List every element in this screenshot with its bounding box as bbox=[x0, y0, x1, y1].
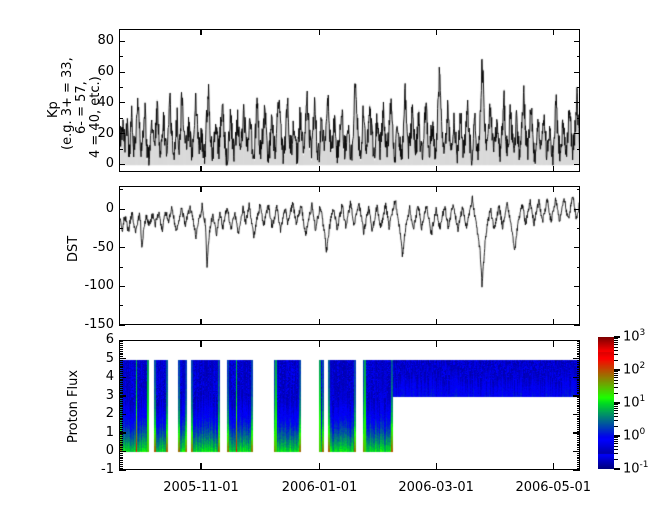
ytick-minor-right bbox=[577, 457, 581, 458]
xtick-major-top bbox=[436, 340, 437, 347]
colorbar-tick-minor bbox=[614, 342, 618, 343]
ytick-minor bbox=[119, 228, 123, 229]
ytick-minor-right bbox=[577, 349, 581, 350]
xtick-label: 2006-05-01 bbox=[505, 481, 601, 494]
colorbar-tick-minor bbox=[614, 406, 618, 407]
ytick-minor-right bbox=[577, 418, 581, 419]
colorbar-tick-minor bbox=[614, 404, 618, 405]
colorbar-tick-minor bbox=[614, 354, 618, 355]
xtick-dst-top bbox=[553, 186, 554, 192]
ytick-minor-right bbox=[577, 408, 581, 409]
xtick-major-top bbox=[553, 340, 554, 347]
ytick-minor-right bbox=[577, 379, 581, 380]
ytick-major bbox=[119, 325, 125, 326]
ytick-minor bbox=[119, 421, 123, 422]
colorbar-tick-minor bbox=[614, 443, 618, 444]
xtick-major-top bbox=[200, 340, 201, 347]
xtick-dst bbox=[436, 319, 437, 325]
ytick-minor-right bbox=[577, 429, 581, 430]
ytick-major bbox=[119, 247, 125, 248]
ytick-minor-right bbox=[577, 392, 581, 393]
ytick-minor bbox=[119, 468, 123, 469]
ytick-minor-right bbox=[577, 118, 581, 119]
xtick-major bbox=[319, 463, 320, 470]
ytick-minor-right bbox=[577, 406, 581, 407]
ytick-minor bbox=[119, 449, 123, 450]
ytick-label: 1 bbox=[106, 426, 114, 439]
ytick-minor-right bbox=[577, 228, 581, 229]
colorbar-tick-minor bbox=[614, 338, 618, 339]
ytick-major-right bbox=[574, 286, 580, 287]
ytick-minor bbox=[119, 410, 123, 411]
ytick-minor-right bbox=[577, 421, 581, 422]
dst-plot-canvas bbox=[120, 187, 580, 325]
ytick-label: -150 bbox=[84, 318, 114, 331]
kp-axis-title-line: (e.g. 3+ = 33, bbox=[60, 57, 75, 150]
xtick-kp-top bbox=[200, 29, 201, 35]
colorbar-tick-minor bbox=[614, 408, 618, 409]
ytick-minor-right bbox=[577, 382, 581, 383]
ytick-minor-right bbox=[577, 449, 581, 450]
ytick-minor bbox=[119, 343, 123, 344]
ytick-minor bbox=[119, 373, 123, 374]
ytick-minor bbox=[119, 466, 123, 467]
colorbar-tick-major bbox=[614, 468, 620, 469]
xtick-kp bbox=[553, 166, 554, 172]
xtick-label: 2005-11-01 bbox=[153, 481, 249, 494]
colorbar-tick-minor bbox=[614, 449, 618, 450]
ytick-minor-right bbox=[577, 375, 581, 376]
colorbar-tick-minor bbox=[614, 446, 618, 447]
ytick-minor bbox=[119, 353, 123, 354]
ytick-minor-right bbox=[577, 347, 581, 348]
ytick-minor-right bbox=[577, 189, 581, 190]
ytick-minor-right bbox=[577, 436, 581, 437]
ytick-label: -50 bbox=[93, 241, 114, 254]
ytick-minor-right bbox=[577, 353, 581, 354]
ytick-minor bbox=[119, 412, 123, 413]
ytick-minor-right bbox=[577, 412, 581, 413]
ytick-minor bbox=[119, 375, 123, 376]
ytick-minor bbox=[119, 379, 123, 380]
colorbar-tick-minor bbox=[614, 437, 618, 438]
ytick-minor bbox=[119, 431, 123, 432]
ytick-minor-right bbox=[577, 458, 581, 459]
ytick-minor-right bbox=[577, 466, 581, 467]
ytick-minor bbox=[119, 380, 123, 381]
ytick-minor bbox=[119, 349, 123, 350]
ytick-label: 0 bbox=[106, 202, 114, 215]
xtick-dst bbox=[200, 319, 201, 325]
proton-flux-panel bbox=[119, 340, 580, 470]
xtick-kp-top bbox=[319, 29, 320, 35]
xtick-major-top bbox=[319, 340, 320, 347]
ytick-label: -100 bbox=[84, 279, 114, 292]
ytick-label: -1 bbox=[101, 463, 114, 476]
ytick-minor bbox=[119, 447, 123, 448]
xtick-kp bbox=[200, 166, 201, 172]
xtick-major bbox=[553, 463, 554, 470]
ytick-minor-right bbox=[577, 56, 581, 57]
colorbar-tick-minor bbox=[614, 453, 618, 454]
ytick-minor bbox=[119, 423, 123, 424]
ytick-minor bbox=[119, 408, 123, 409]
kp-panel bbox=[119, 29, 580, 172]
ytick-minor bbox=[119, 405, 123, 406]
ytick-major-right bbox=[574, 102, 580, 103]
ytick-minor bbox=[119, 393, 123, 394]
ytick-minor-right bbox=[577, 445, 581, 446]
ytick-label: 3 bbox=[106, 389, 114, 402]
ytick-minor-right bbox=[577, 434, 581, 435]
colorbar-tick-minor bbox=[614, 393, 618, 394]
ytick-minor bbox=[119, 427, 123, 428]
xtick-dst-top bbox=[200, 186, 201, 192]
ytick-major-right bbox=[574, 72, 580, 73]
ytick-major-right bbox=[574, 133, 580, 134]
ytick-minor bbox=[119, 392, 123, 393]
colorbar-tick-minor bbox=[614, 347, 618, 348]
colorbar-tick-minor bbox=[614, 377, 618, 378]
ytick-major-right bbox=[573, 470, 580, 471]
colorbar-tick-minor bbox=[614, 426, 618, 427]
xtick-major bbox=[200, 463, 201, 470]
ytick-major-right bbox=[574, 247, 580, 248]
colorbar-tick-minor bbox=[614, 416, 618, 417]
colorbar-tick-label: 101 bbox=[623, 394, 645, 410]
colorbar-tick-minor bbox=[614, 439, 618, 440]
colorbar-tick-minor bbox=[614, 459, 618, 460]
ytick-minor-right bbox=[577, 410, 581, 411]
colorbar-tick-minor bbox=[614, 360, 618, 361]
xtick-kp bbox=[319, 166, 320, 172]
ytick-minor-right bbox=[577, 351, 581, 352]
ytick-minor bbox=[119, 189, 123, 190]
ytick-minor bbox=[119, 418, 123, 419]
colorbar-tick-minor bbox=[614, 420, 618, 421]
ytick-label: 6 bbox=[106, 333, 114, 346]
ytick-minor bbox=[119, 445, 123, 446]
ytick-minor bbox=[119, 305, 123, 306]
ytick-minor-right bbox=[577, 431, 581, 432]
ytick-label: 80 bbox=[97, 34, 114, 47]
ytick-minor-right bbox=[577, 416, 581, 417]
ytick-minor bbox=[119, 364, 123, 365]
ytick-major-right bbox=[574, 325, 580, 326]
ytick-minor-right bbox=[577, 427, 581, 428]
ytick-minor-right bbox=[577, 345, 581, 346]
kp-axis-title-line: Kp bbox=[46, 101, 61, 118]
figure-root: 020406080 Kp(e.g. 3+ = 33,6- = 57,4 = 40… bbox=[0, 0, 665, 523]
ytick-minor-right bbox=[577, 440, 581, 441]
ytick-label: 0 bbox=[106, 157, 114, 170]
ytick-minor bbox=[119, 453, 123, 454]
ytick-major bbox=[119, 133, 125, 134]
ytick-minor bbox=[119, 419, 123, 420]
xtick-dst-top bbox=[319, 186, 320, 192]
ytick-minor bbox=[119, 406, 123, 407]
colorbar-tick-minor bbox=[614, 344, 618, 345]
ytick-minor bbox=[119, 366, 123, 367]
ytick-minor-right bbox=[577, 460, 581, 461]
ytick-label: 0 bbox=[106, 444, 114, 457]
colorbar-tick-minor bbox=[614, 380, 618, 381]
ytick-major bbox=[119, 41, 125, 42]
ytick-minor-right bbox=[577, 464, 581, 465]
xtick-kp-top bbox=[436, 29, 437, 35]
ytick-minor bbox=[119, 403, 123, 404]
colorbar bbox=[598, 337, 614, 469]
ytick-minor-right bbox=[577, 367, 581, 368]
ytick-minor-right bbox=[577, 343, 581, 344]
ytick-minor bbox=[119, 386, 123, 387]
xtick-label: 2006-01-01 bbox=[272, 481, 368, 494]
ytick-major-right bbox=[574, 209, 580, 210]
colorbar-tick-label: 10-1 bbox=[623, 460, 649, 476]
ytick-minor-right bbox=[577, 393, 581, 394]
ytick-label: 4 bbox=[106, 370, 114, 383]
ytick-minor bbox=[119, 401, 123, 402]
ytick-minor bbox=[119, 397, 123, 398]
xtick-label: 2006-03-01 bbox=[388, 481, 484, 494]
ytick-label: 2 bbox=[106, 407, 114, 420]
ytick-minor-right bbox=[577, 401, 581, 402]
dst-panel bbox=[119, 186, 580, 325]
colorbar-tick-minor bbox=[614, 441, 618, 442]
ytick-minor-right bbox=[577, 442, 581, 443]
proton-flux-axis-title: Proton Flux bbox=[66, 370, 81, 443]
ytick-minor bbox=[119, 149, 123, 150]
xtick-kp bbox=[436, 166, 437, 172]
ytick-minor bbox=[119, 458, 123, 459]
ytick-minor bbox=[119, 429, 123, 430]
ytick-minor bbox=[119, 267, 123, 268]
colorbar-tick-minor bbox=[614, 371, 618, 372]
ytick-minor bbox=[119, 360, 123, 361]
xtick-major bbox=[436, 463, 437, 470]
ytick-minor bbox=[119, 455, 123, 456]
ytick-minor-right bbox=[577, 149, 581, 150]
ytick-minor-right bbox=[577, 364, 581, 365]
ytick-minor bbox=[119, 384, 123, 385]
ytick-minor bbox=[119, 345, 123, 346]
xtick-kp-top bbox=[553, 29, 554, 35]
xtick-dst-top bbox=[436, 186, 437, 192]
ytick-minor-right bbox=[577, 360, 581, 361]
ytick-minor bbox=[119, 118, 123, 119]
ytick-minor-right bbox=[577, 341, 581, 342]
ytick-minor-right bbox=[577, 267, 581, 268]
ytick-major bbox=[119, 72, 125, 73]
ytick-minor bbox=[119, 382, 123, 383]
proton-flux-heatmap-canvas bbox=[120, 341, 580, 470]
ytick-minor-right bbox=[577, 356, 581, 357]
colorbar-tick-label: 103 bbox=[623, 328, 645, 344]
ytick-minor-right bbox=[577, 388, 581, 389]
ytick-minor bbox=[119, 351, 123, 352]
ytick-minor-right bbox=[577, 399, 581, 400]
colorbar-tick-minor bbox=[614, 383, 618, 384]
ytick-minor bbox=[119, 438, 123, 439]
ytick-minor-right bbox=[577, 305, 581, 306]
ytick-minor-right bbox=[577, 380, 581, 381]
ytick-minor-right bbox=[577, 419, 581, 420]
colorbar-tick-minor bbox=[614, 350, 618, 351]
ytick-major bbox=[119, 470, 126, 471]
ytick-minor bbox=[119, 416, 123, 417]
ytick-minor-right bbox=[577, 468, 581, 469]
ytick-minor-right bbox=[577, 438, 581, 439]
ytick-minor bbox=[119, 354, 123, 355]
ytick-minor bbox=[119, 436, 123, 437]
colorbar-tick-minor bbox=[614, 340, 618, 341]
ytick-major bbox=[119, 164, 125, 165]
dst-axis-title: DST bbox=[66, 236, 81, 262]
ytick-minor-right bbox=[577, 462, 581, 463]
ytick-major-right bbox=[574, 41, 580, 42]
ytick-minor bbox=[119, 362, 123, 363]
ytick-minor bbox=[119, 425, 123, 426]
ytick-minor-right bbox=[577, 362, 581, 363]
colorbar-tick-minor bbox=[614, 410, 618, 411]
ytick-minor bbox=[119, 371, 123, 372]
ytick-minor bbox=[119, 367, 123, 368]
kp-axis-title-line: 4 = 40, etc.) bbox=[88, 76, 103, 158]
ytick-minor-right bbox=[577, 366, 581, 367]
ytick-minor bbox=[119, 341, 123, 342]
kp-plot-canvas bbox=[120, 30, 580, 172]
ytick-minor bbox=[119, 347, 123, 348]
ytick-minor bbox=[119, 444, 123, 445]
ytick-minor-right bbox=[577, 447, 581, 448]
colorbar-tick-minor bbox=[614, 413, 618, 414]
colorbar-tick-minor bbox=[614, 375, 618, 376]
colorbar-tick-minor bbox=[614, 387, 618, 388]
ytick-minor-right bbox=[577, 425, 581, 426]
ytick-minor bbox=[119, 399, 123, 400]
ytick-minor-right bbox=[577, 390, 581, 391]
ytick-major-right bbox=[574, 164, 580, 165]
ytick-minor bbox=[119, 442, 123, 443]
ytick-minor-right bbox=[577, 453, 581, 454]
ytick-minor bbox=[119, 56, 123, 57]
colorbar-tick-label: 102 bbox=[623, 361, 645, 377]
ytick-minor-right bbox=[577, 87, 581, 88]
ytick-minor bbox=[119, 434, 123, 435]
ytick-minor-right bbox=[577, 373, 581, 374]
colorbar-tick-label: 100 bbox=[623, 427, 645, 443]
xtick-dst bbox=[553, 319, 554, 325]
ytick-major bbox=[119, 286, 125, 287]
ytick-minor bbox=[119, 369, 123, 370]
ytick-minor-right bbox=[577, 455, 581, 456]
xtick-dst bbox=[319, 319, 320, 325]
ytick-minor-right bbox=[577, 423, 581, 424]
ytick-minor-right bbox=[577, 386, 581, 387]
ytick-minor-right bbox=[577, 354, 581, 355]
ytick-minor-right bbox=[577, 405, 581, 406]
ytick-minor-right bbox=[577, 397, 581, 398]
ytick-minor-right bbox=[577, 403, 581, 404]
ytick-minor bbox=[119, 87, 123, 88]
ytick-minor bbox=[119, 457, 123, 458]
ytick-minor bbox=[119, 460, 123, 461]
ytick-minor-right bbox=[577, 384, 581, 385]
ytick-minor bbox=[119, 388, 123, 389]
ytick-minor bbox=[119, 464, 123, 465]
ytick-minor-right bbox=[577, 371, 581, 372]
ytick-minor-right bbox=[577, 369, 581, 370]
ytick-minor bbox=[119, 390, 123, 391]
ytick-minor bbox=[119, 356, 123, 357]
ytick-major bbox=[119, 209, 125, 210]
kp-axis-title-line: 6- = 57, bbox=[74, 81, 89, 134]
ytick-minor-right bbox=[577, 444, 581, 445]
colorbar-tick-minor bbox=[614, 373, 618, 374]
ytick-minor bbox=[119, 440, 123, 441]
ytick-minor bbox=[119, 462, 123, 463]
ytick-major bbox=[119, 102, 125, 103]
ytick-label: 5 bbox=[106, 352, 114, 365]
